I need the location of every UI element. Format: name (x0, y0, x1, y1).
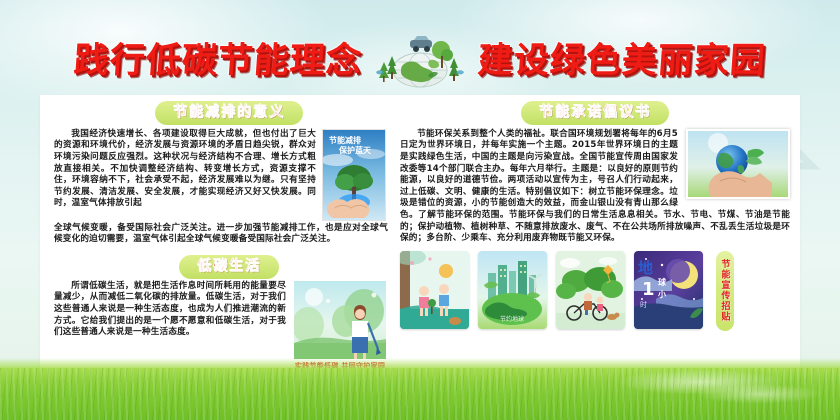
section1-body: 节能减排 保护蓝天 我国经济快速增长、各项建设取得巨大成就，但也付出了巨大的资源… (48, 125, 392, 210)
poster-title-bar: 践行低碳节能理念 (0, 26, 840, 88)
family-bicycle-card (556, 251, 625, 329)
poster-root: 践行低碳节能理念 (0, 0, 840, 420)
vertical-label-text: 节能宣传招贴 (719, 259, 732, 322)
eco-globe-icon (368, 26, 472, 88)
vertical-label-badge: 节能宣传招贴 (716, 251, 734, 331)
children-planting-tree-card (400, 251, 469, 329)
svg-text:节能减排: 节能减排 (329, 135, 361, 145)
section1-heading-row: 节能减排的意义 (48, 101, 392, 125)
svg-text:地: 地 (638, 259, 653, 277)
image-strip: 节约地球 (398, 245, 792, 331)
content-card: 节能减排的意义 (40, 95, 800, 375)
grass-strip (0, 368, 840, 420)
section1-heading: 节能减排的意义 (155, 101, 303, 125)
section2-body: 实践节能低碳 共同守护家园 所谓低碳生活，就是把生活作息时间所耗用的能量要尽量减… (48, 279, 392, 339)
section2-heading-row: 低碳生活 (48, 255, 392, 279)
section2-heading: 低碳生活 (179, 255, 279, 279)
earth-hour-card: 地 球 1 小 时 (634, 251, 703, 329)
title-left: 践行低碳节能理念 (72, 32, 364, 83)
earth-in-hands-photo (686, 129, 790, 199)
svg-text:节约地球: 节约地球 (500, 315, 524, 323)
section1-paragraph-wide-wrap: 全球气候变暖，备受国际社会广泛关注。进一步加强节能减排工作，也是应对全球气候变化… (48, 223, 392, 246)
svg-text:1: 1 (642, 279, 655, 300)
svg-text:小: 小 (657, 289, 666, 299)
svg-text:时: 时 (640, 300, 647, 309)
title-right: 建设绿色美丽家园 (476, 32, 768, 83)
right-heading-row: 节能承诺倡议书 (398, 101, 792, 125)
section1-paragraph-wide: 全球气候变暖，备受国际社会广泛关注。进一步加强节能减排工作，也是应对全球气候变化… (54, 223, 388, 246)
right-body: 节能环保关系到整个人类的福祉。联合国环境规划署将每年的6月5日定为世界环境日，并… (398, 125, 792, 245)
right-heading: 节能承诺倡议书 (521, 101, 669, 125)
green-city-globe-card: 节约地球 (478, 251, 547, 329)
svg-text:保护蓝天: 保护蓝天 (338, 145, 372, 155)
grass-edge (0, 358, 840, 368)
svg-text:球: 球 (658, 277, 667, 287)
tree-in-hands-photo: 节能减排 保护蓝天 (322, 129, 386, 221)
right-column: 节能承诺倡议书 (392, 95, 800, 375)
girl-planting-illustration (294, 281, 386, 359)
left-column: 节能减排的意义 (40, 95, 392, 375)
